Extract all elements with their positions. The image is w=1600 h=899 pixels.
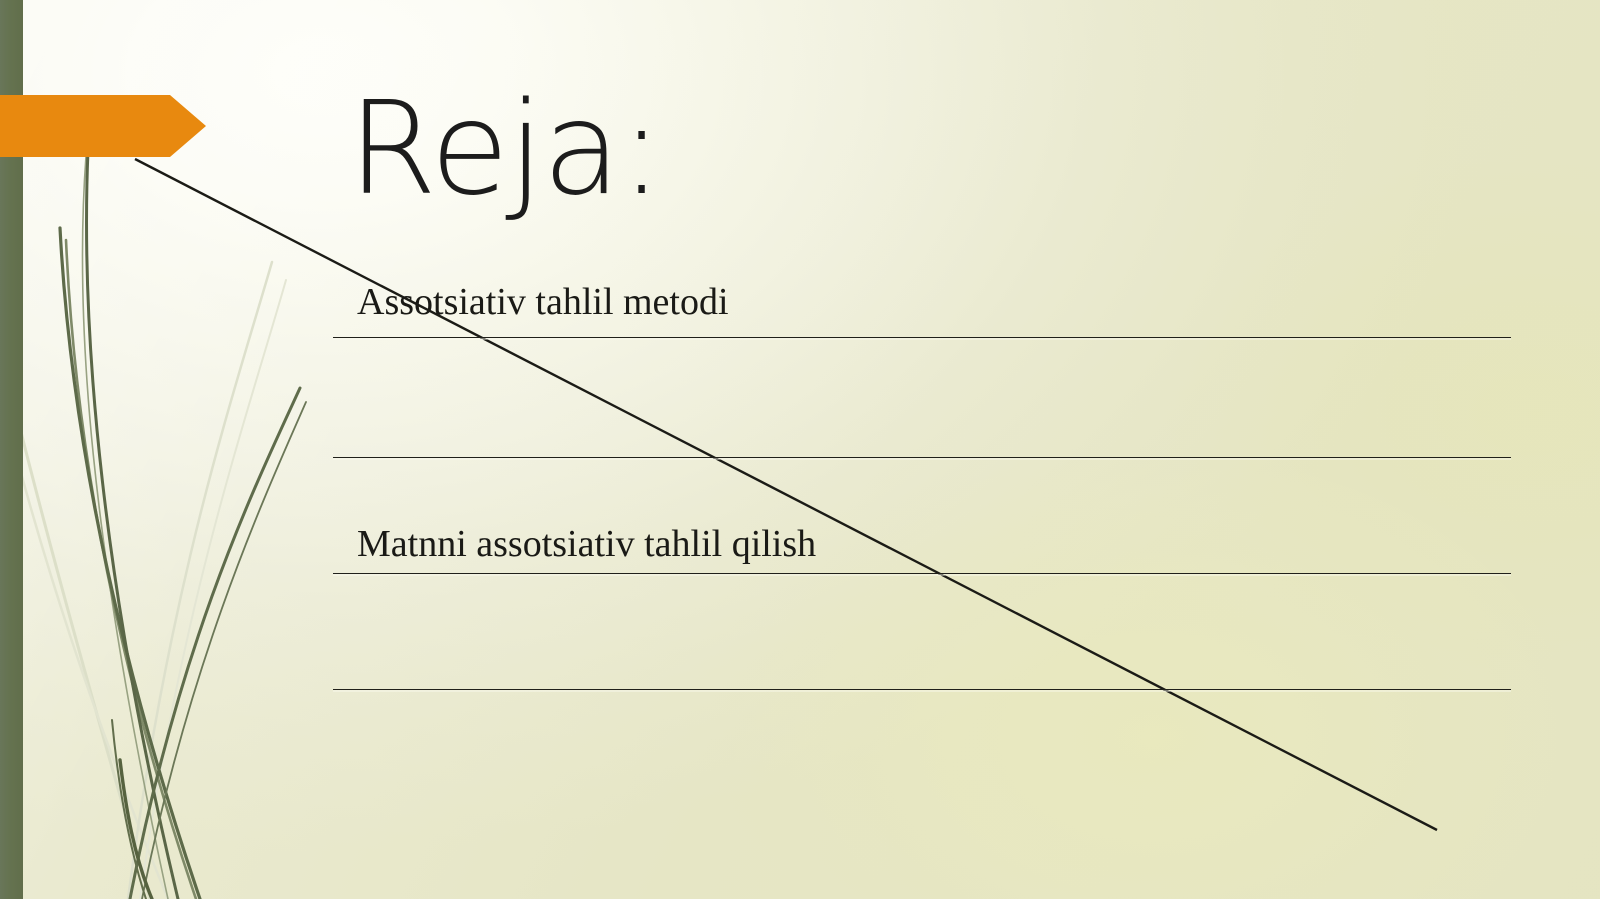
list-item[interactable]: Matnni assotsiativ tahlil qilish [333, 516, 1511, 574]
list-item[interactable] [333, 400, 1511, 458]
content-list: Assotsiativ tahlil metodi Matnni assotsi… [333, 276, 1511, 512]
orange-chevron-banner [0, 95, 206, 157]
list-item[interactable] [333, 632, 1511, 690]
list-item-label: Assotsiativ tahlil metodi [333, 280, 729, 324]
list-item-rule [333, 689, 1511, 690]
page-title: Reja: [348, 83, 662, 217]
list-item[interactable]: Assotsiativ tahlil metodi [333, 276, 1511, 338]
list-item-rule [333, 573, 1511, 574]
list-item-label: Matnni assotsiativ tahlil qilish [333, 522, 816, 566]
list-item-rule [333, 457, 1511, 458]
list-item-rule [333, 337, 1511, 338]
presentation-slide: Reja: Assotsiativ tahlil metodi Matnni a… [0, 0, 1600, 899]
